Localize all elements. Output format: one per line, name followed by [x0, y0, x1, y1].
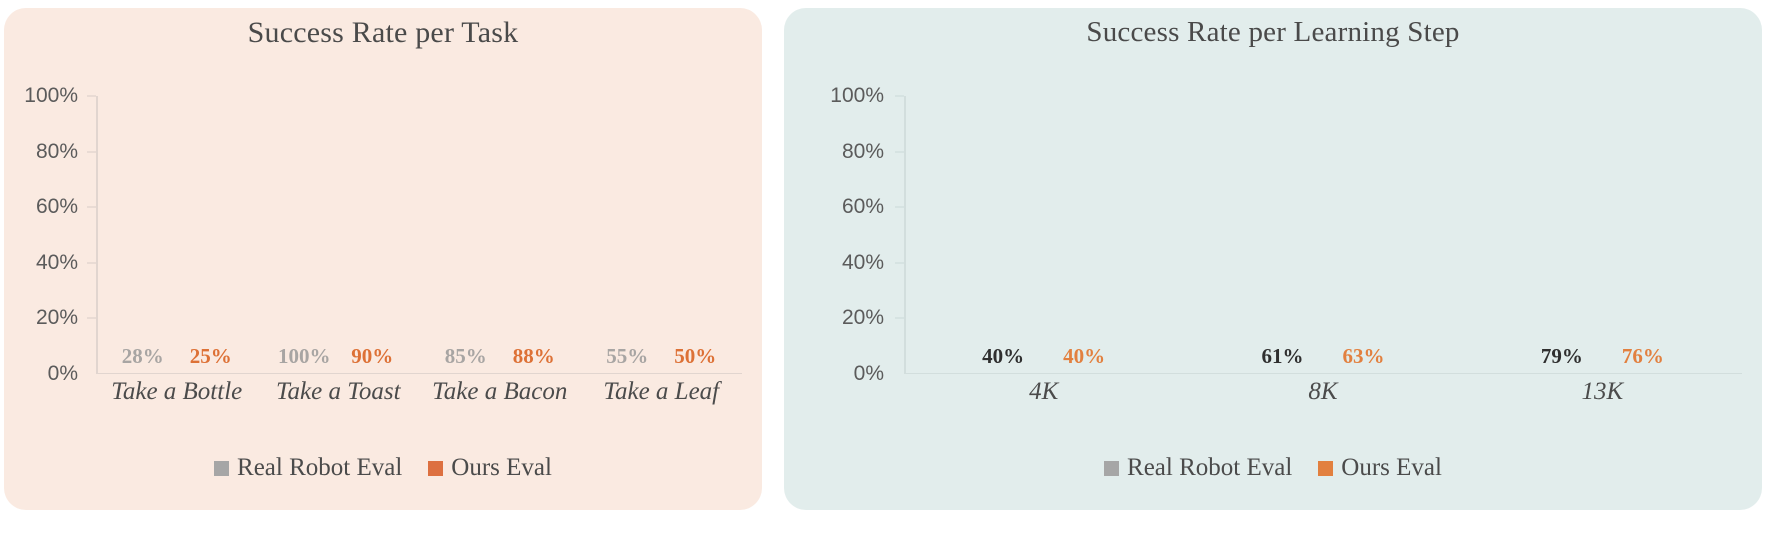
- bar-group: 55%50%: [581, 96, 743, 374]
- y-axis-tick-mark: [87, 207, 96, 208]
- y-axis-tick-label: 0%: [854, 362, 884, 386]
- y-axis-tick-label: 80%: [842, 140, 884, 164]
- legend-swatch-icon-orange: [1318, 461, 1333, 476]
- legend-label-real-robot-eval: Real Robot Eval: [1127, 454, 1292, 482]
- legend-item-real-robot-eval[interactable]: Real Robot Eval: [1104, 454, 1292, 482]
- plot-area-right: 40%40%61%63%79%76% 0%20%40%60%80%100%: [904, 96, 1742, 374]
- y-axis-tick-label: 60%: [842, 195, 884, 219]
- y-axis-tick-label: 40%: [842, 251, 884, 275]
- category-labels-right: 4K8K13K: [904, 378, 1742, 406]
- chart-panel-success-rate-per-learning-step: Success Rate per Learning Step 40%40%61%…: [784, 8, 1762, 510]
- bar-value-label: 40%: [1063, 344, 1105, 369]
- legend-label-ours-eval: Ours Eval: [1341, 454, 1442, 482]
- x-axis-category-label: Take a Toast: [258, 378, 420, 406]
- bar-group: 79%76%: [1463, 96, 1742, 374]
- bar-group: 85%88%: [419, 96, 581, 374]
- y-axis-tick-label: 80%: [36, 140, 78, 164]
- bar-value-label: 40%: [982, 344, 1024, 369]
- plot-area-left: 28%25%100%90%85%88%55%50% 0%20%40%60%80%…: [96, 96, 742, 374]
- legend-item-ours-eval[interactable]: Ours Eval: [428, 454, 552, 482]
- y-axis-tick-label: 40%: [36, 251, 78, 275]
- legend-right: Real Robot Eval Ours Eval: [784, 454, 1762, 482]
- y-axis-tick-mark: [87, 318, 96, 319]
- bar-group: 100%90%: [258, 96, 420, 374]
- y-axis-tick-label: 0%: [48, 362, 78, 386]
- category-labels-left: Take a BottleTake a ToastTake a BaconTak…: [96, 378, 742, 406]
- legend-swatch-icon-gray: [1104, 461, 1119, 476]
- bar-value-label: 88%: [513, 344, 555, 369]
- legend-swatch-icon-orange: [428, 461, 443, 476]
- legend-swatch-icon-gray: [214, 461, 229, 476]
- bar-value-label: 61%: [1261, 344, 1303, 369]
- chart-panel-success-rate-per-task: Success Rate per Task 28%25%100%90%85%88…: [4, 8, 762, 510]
- legend-item-ours-eval[interactable]: Ours Eval: [1318, 454, 1442, 482]
- y-axis-tick-label: 100%: [24, 84, 78, 108]
- y-axis-tick-label: 20%: [842, 306, 884, 330]
- y-axis-tick-mark: [87, 262, 96, 263]
- chart-title-right: Success Rate per Learning Step: [784, 16, 1762, 49]
- bar-groups-left: 28%25%100%90%85%88%55%50%: [96, 96, 742, 374]
- bar-value-label: 28%: [122, 344, 164, 369]
- bar-value-label: 90%: [351, 344, 393, 369]
- y-axis-tick-mark: [895, 96, 904, 97]
- bar-value-label: 63%: [1342, 344, 1384, 369]
- legend-label-real-robot-eval: Real Robot Eval: [237, 454, 402, 482]
- chart-title-left: Success Rate per Task: [4, 16, 762, 50]
- bar-value-label: 55%: [606, 344, 648, 369]
- bar-value-label: 79%: [1541, 344, 1583, 369]
- y-axis-tick-mark: [895, 207, 904, 208]
- y-axis-tick-label: 60%: [36, 195, 78, 219]
- x-axis-category-label: Take a Leaf: [581, 378, 743, 406]
- legend-label-ours-eval: Ours Eval: [451, 454, 552, 482]
- figure-container: Success Rate per Task 28%25%100%90%85%88…: [0, 0, 1774, 550]
- bar-value-label: 76%: [1622, 344, 1664, 369]
- bar-groups-right: 40%40%61%63%79%76%: [904, 96, 1742, 374]
- x-axis-category-label: Take a Bottle: [96, 378, 258, 406]
- legend-left: Real Robot Eval Ours Eval: [4, 454, 762, 482]
- x-axis-category-label: 4K: [904, 378, 1183, 406]
- bar-value-label: 85%: [445, 344, 487, 369]
- bar-group: 28%25%: [96, 96, 258, 374]
- y-axis-tick-mark: [895, 151, 904, 152]
- bar-group: 61%63%: [1183, 96, 1462, 374]
- bar-value-label: 25%: [190, 344, 232, 369]
- y-axis-tick-mark: [895, 318, 904, 319]
- bar-value-label: 50%: [674, 344, 716, 369]
- y-axis-tick-mark: [87, 96, 96, 97]
- bar-group: 40%40%: [904, 96, 1183, 374]
- y-axis-tick-mark: [895, 262, 904, 263]
- x-axis-category-label: Take a Bacon: [419, 378, 581, 406]
- legend-item-real-robot-eval[interactable]: Real Robot Eval: [214, 454, 402, 482]
- y-axis-tick-label: 20%: [36, 306, 78, 330]
- bar-value-label: 100%: [278, 344, 331, 369]
- y-axis-tick-label: 100%: [830, 84, 884, 108]
- y-axis-tick-mark: [87, 151, 96, 152]
- x-axis-category-label: 13K: [1463, 378, 1742, 406]
- x-axis-category-label: 8K: [1183, 378, 1462, 406]
